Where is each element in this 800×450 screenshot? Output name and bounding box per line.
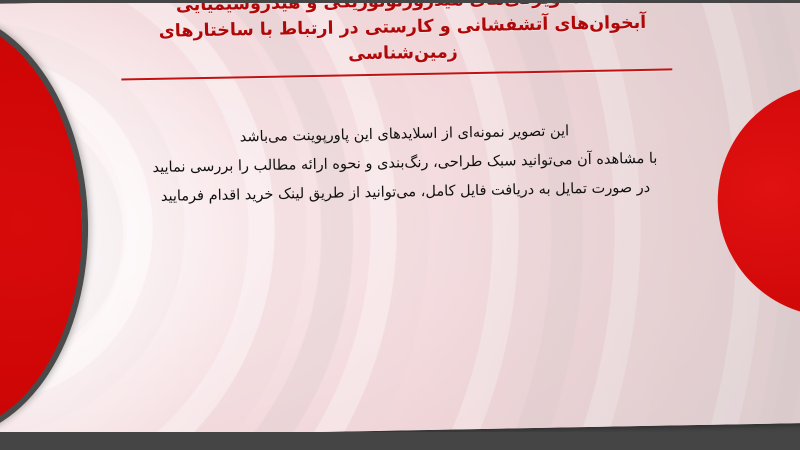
slide-title: مطالعه ویژگی‌های هیدروژئولوژیکی و هیدروش… [0,0,800,74]
slide-body-text: این تصویر نمونه‌ای از اسلایدهای این پاور… [0,113,800,215]
presentation-slide: مطالعه ویژگی‌های هیدروژئولوژیکی و هیدروش… [0,0,800,450]
title-divider-rule [121,68,672,80]
slide-text-layer: مطالعه ویژگی‌های هیدروژئولوژیکی و هیدروش… [0,0,800,438]
slide-content-plane: مطالعه ویژگی‌های هیدروژئولوژیکی و هیدروش… [0,0,800,438]
